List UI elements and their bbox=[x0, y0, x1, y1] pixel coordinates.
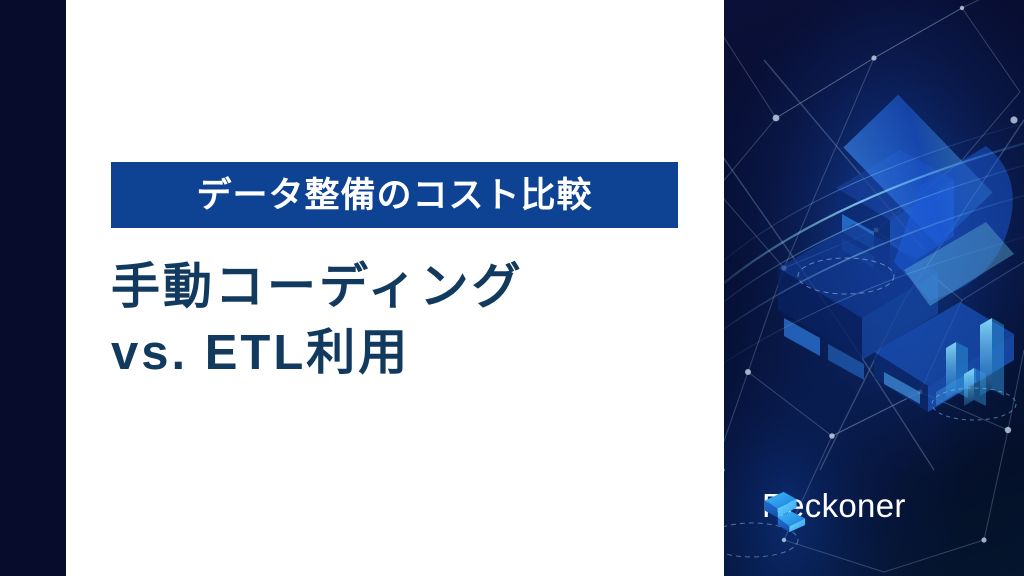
page-title-line-2: vs. ETL利用 bbox=[111, 321, 711, 387]
slide-root: データ整備のコスト比較 手動コーディング vs. ETL利用 bbox=[0, 0, 1024, 576]
decorative-visual-panel: Reckoner bbox=[724, 0, 1024, 576]
section-label-text: データ整備のコスト比較 bbox=[196, 178, 592, 213]
reckoner-logo: Reckoner bbox=[762, 489, 906, 522]
reckoner-ribbon-icon bbox=[762, 489, 808, 535]
page-title-line-1: 手動コーディング bbox=[111, 255, 711, 321]
left-accent-strip bbox=[0, 0, 66, 576]
page-title: 手動コーディング vs. ETL利用 bbox=[111, 255, 711, 386]
slide-content-area: データ整備のコスト比較 手動コーディング vs. ETL利用 bbox=[66, 0, 724, 576]
section-label-banner: データ整備のコスト比較 bbox=[111, 162, 678, 228]
